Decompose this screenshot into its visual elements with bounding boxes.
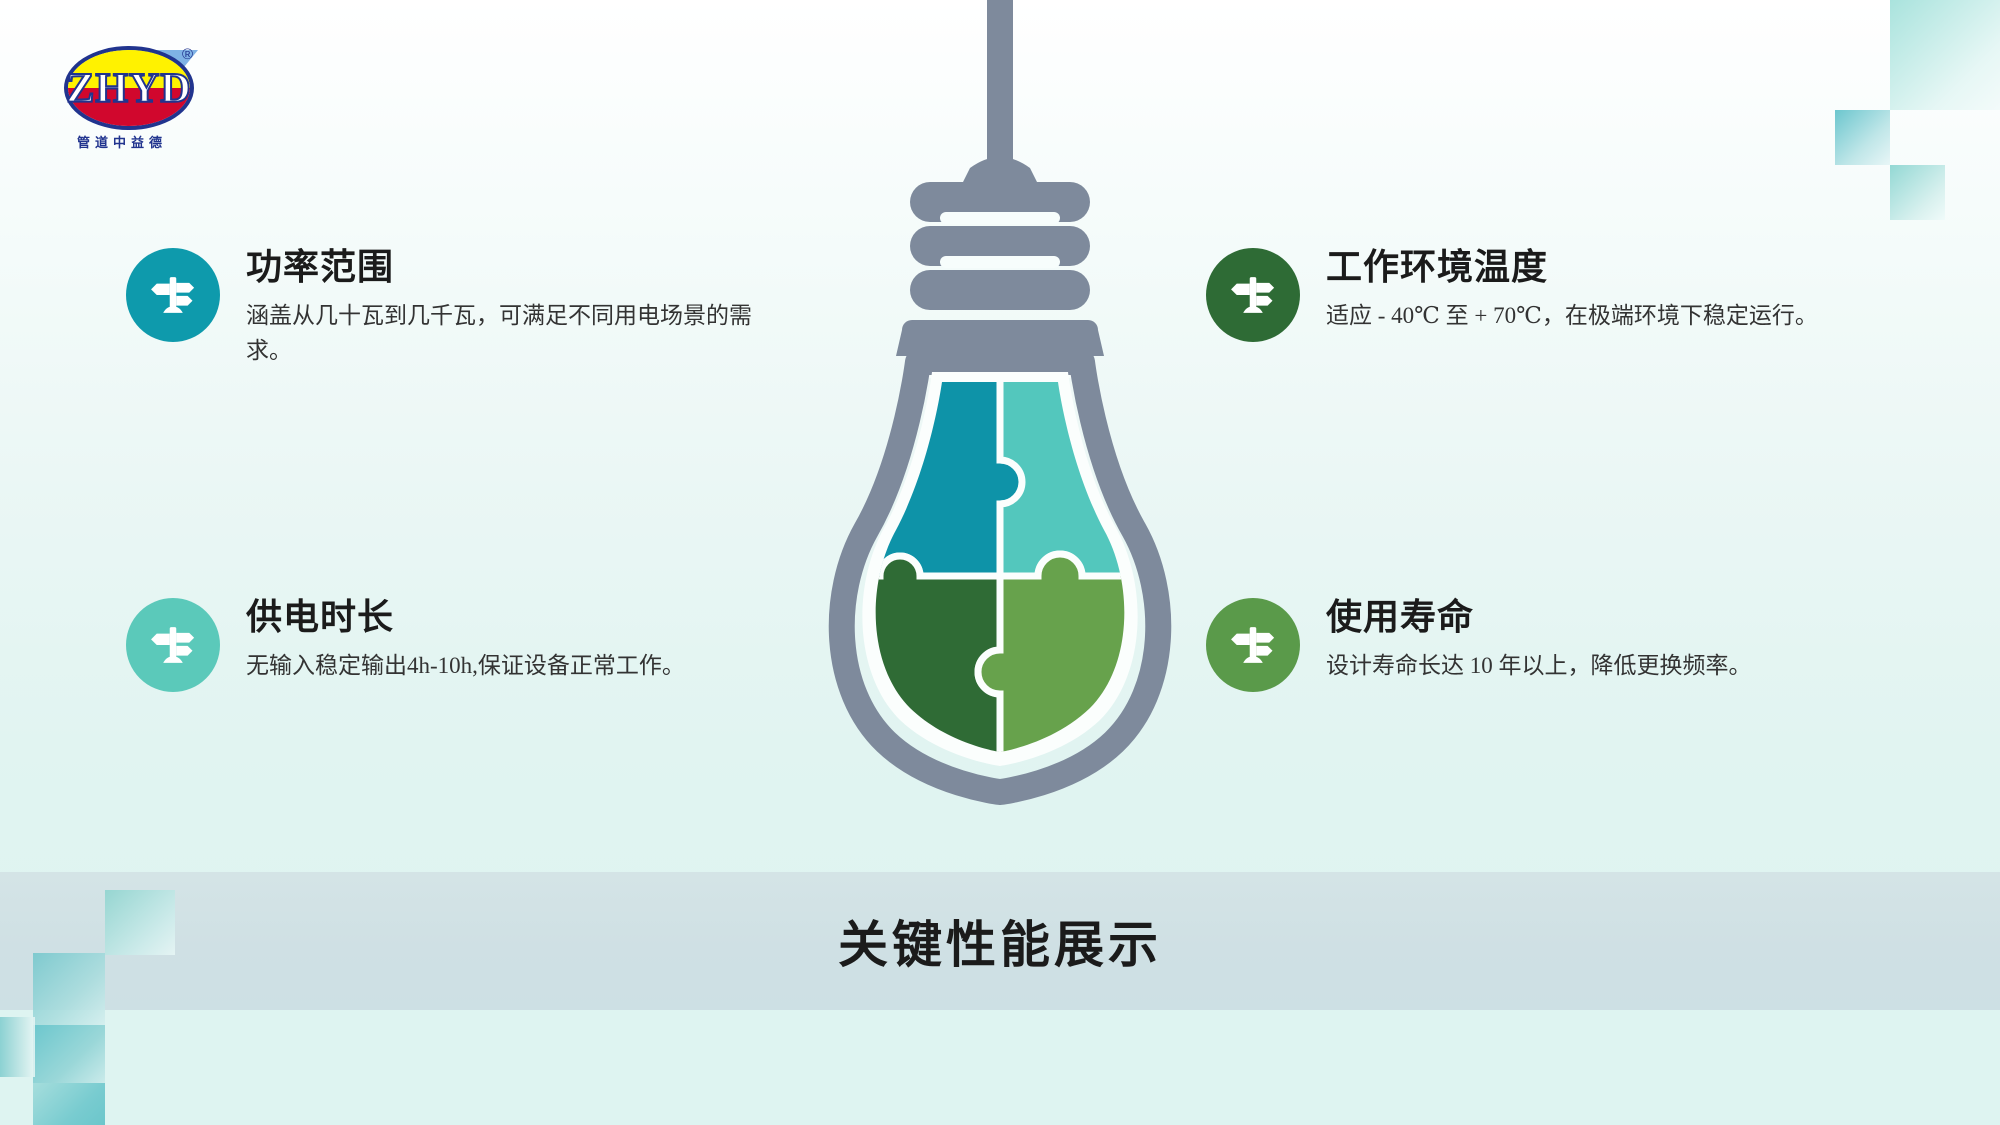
feature-service-life: 使用寿命 设计寿命长达 10 年以上，降低更换频率。 [1206, 598, 1906, 692]
feature-title: 工作环境温度 [1326, 248, 1818, 288]
deco-square [0, 1017, 35, 1077]
feature-power-range: 功率范围 涵盖从几十瓦到几千瓦，可满足不同用电场景的需求。 [126, 248, 786, 369]
decorative-squares-top-right [1780, 0, 2000, 220]
company-logo: ZHYD ® 管道中益德 [42, 40, 202, 155]
feature-body: 无输入稳定输出4h-10h,保证设备正常工作。 [246, 648, 685, 684]
deco-square [1890, 165, 1945, 220]
feature-title: 使用寿命 [1326, 598, 1752, 638]
banner-title: 关键性能展示 [0, 872, 2000, 1010]
feature-power-supply-duration: 供电时长 无输入稳定输出4h-10h,保证设备正常工作。 [126, 598, 786, 692]
bulb-collar [962, 157, 1038, 184]
feature-title: 功率范围 [246, 248, 786, 288]
deco-square [1835, 110, 1890, 165]
feature-operating-temperature: 工作环境温度 适应 - 40℃ 至 + 70℃，在极端环境下稳定运行。 [1206, 248, 1906, 342]
signpost-icon [1206, 598, 1300, 692]
lightbulb-puzzle-illustration [800, 0, 1200, 820]
feature-text: 使用寿命 设计寿命长达 10 年以上，降低更换频率。 [1326, 598, 1752, 683]
feature-body: 涵盖从几十瓦到几千瓦，可满足不同用电场景的需求。 [246, 298, 786, 369]
feature-title: 供电时长 [246, 598, 685, 638]
bulb-thread [910, 270, 1090, 310]
signpost-icon [1206, 248, 1300, 342]
feature-text: 工作环境温度 适应 - 40℃ 至 + 70℃，在极端环境下稳定运行。 [1326, 248, 1818, 333]
deco-square [1890, 0, 2000, 110]
deco-square [33, 1025, 105, 1083]
bottom-strip [0, 1010, 2000, 1125]
feature-text: 功率范围 涵盖从几十瓦到几千瓦，可满足不同用电场景的需求。 [246, 248, 786, 369]
slide-root: ZHYD ® 管道中益德 [0, 0, 2000, 1125]
registered-mark: ® [182, 46, 193, 63]
deco-square [33, 1083, 105, 1125]
logo-subtitle: 管道中益德 [42, 132, 202, 151]
feature-body: 设计寿命长达 10 年以上，降低更换频率。 [1326, 648, 1752, 684]
bulb-cord [987, 0, 1013, 180]
signpost-icon [126, 598, 220, 692]
feature-text: 供电时长 无输入稳定输出4h-10h,保证设备正常工作。 [246, 598, 685, 683]
signpost-icon [126, 248, 220, 342]
feature-body: 适应 - 40℃ 至 + 70℃，在极端环境下稳定运行。 [1326, 298, 1818, 334]
logo-wordmark: ZHYD [64, 68, 194, 110]
